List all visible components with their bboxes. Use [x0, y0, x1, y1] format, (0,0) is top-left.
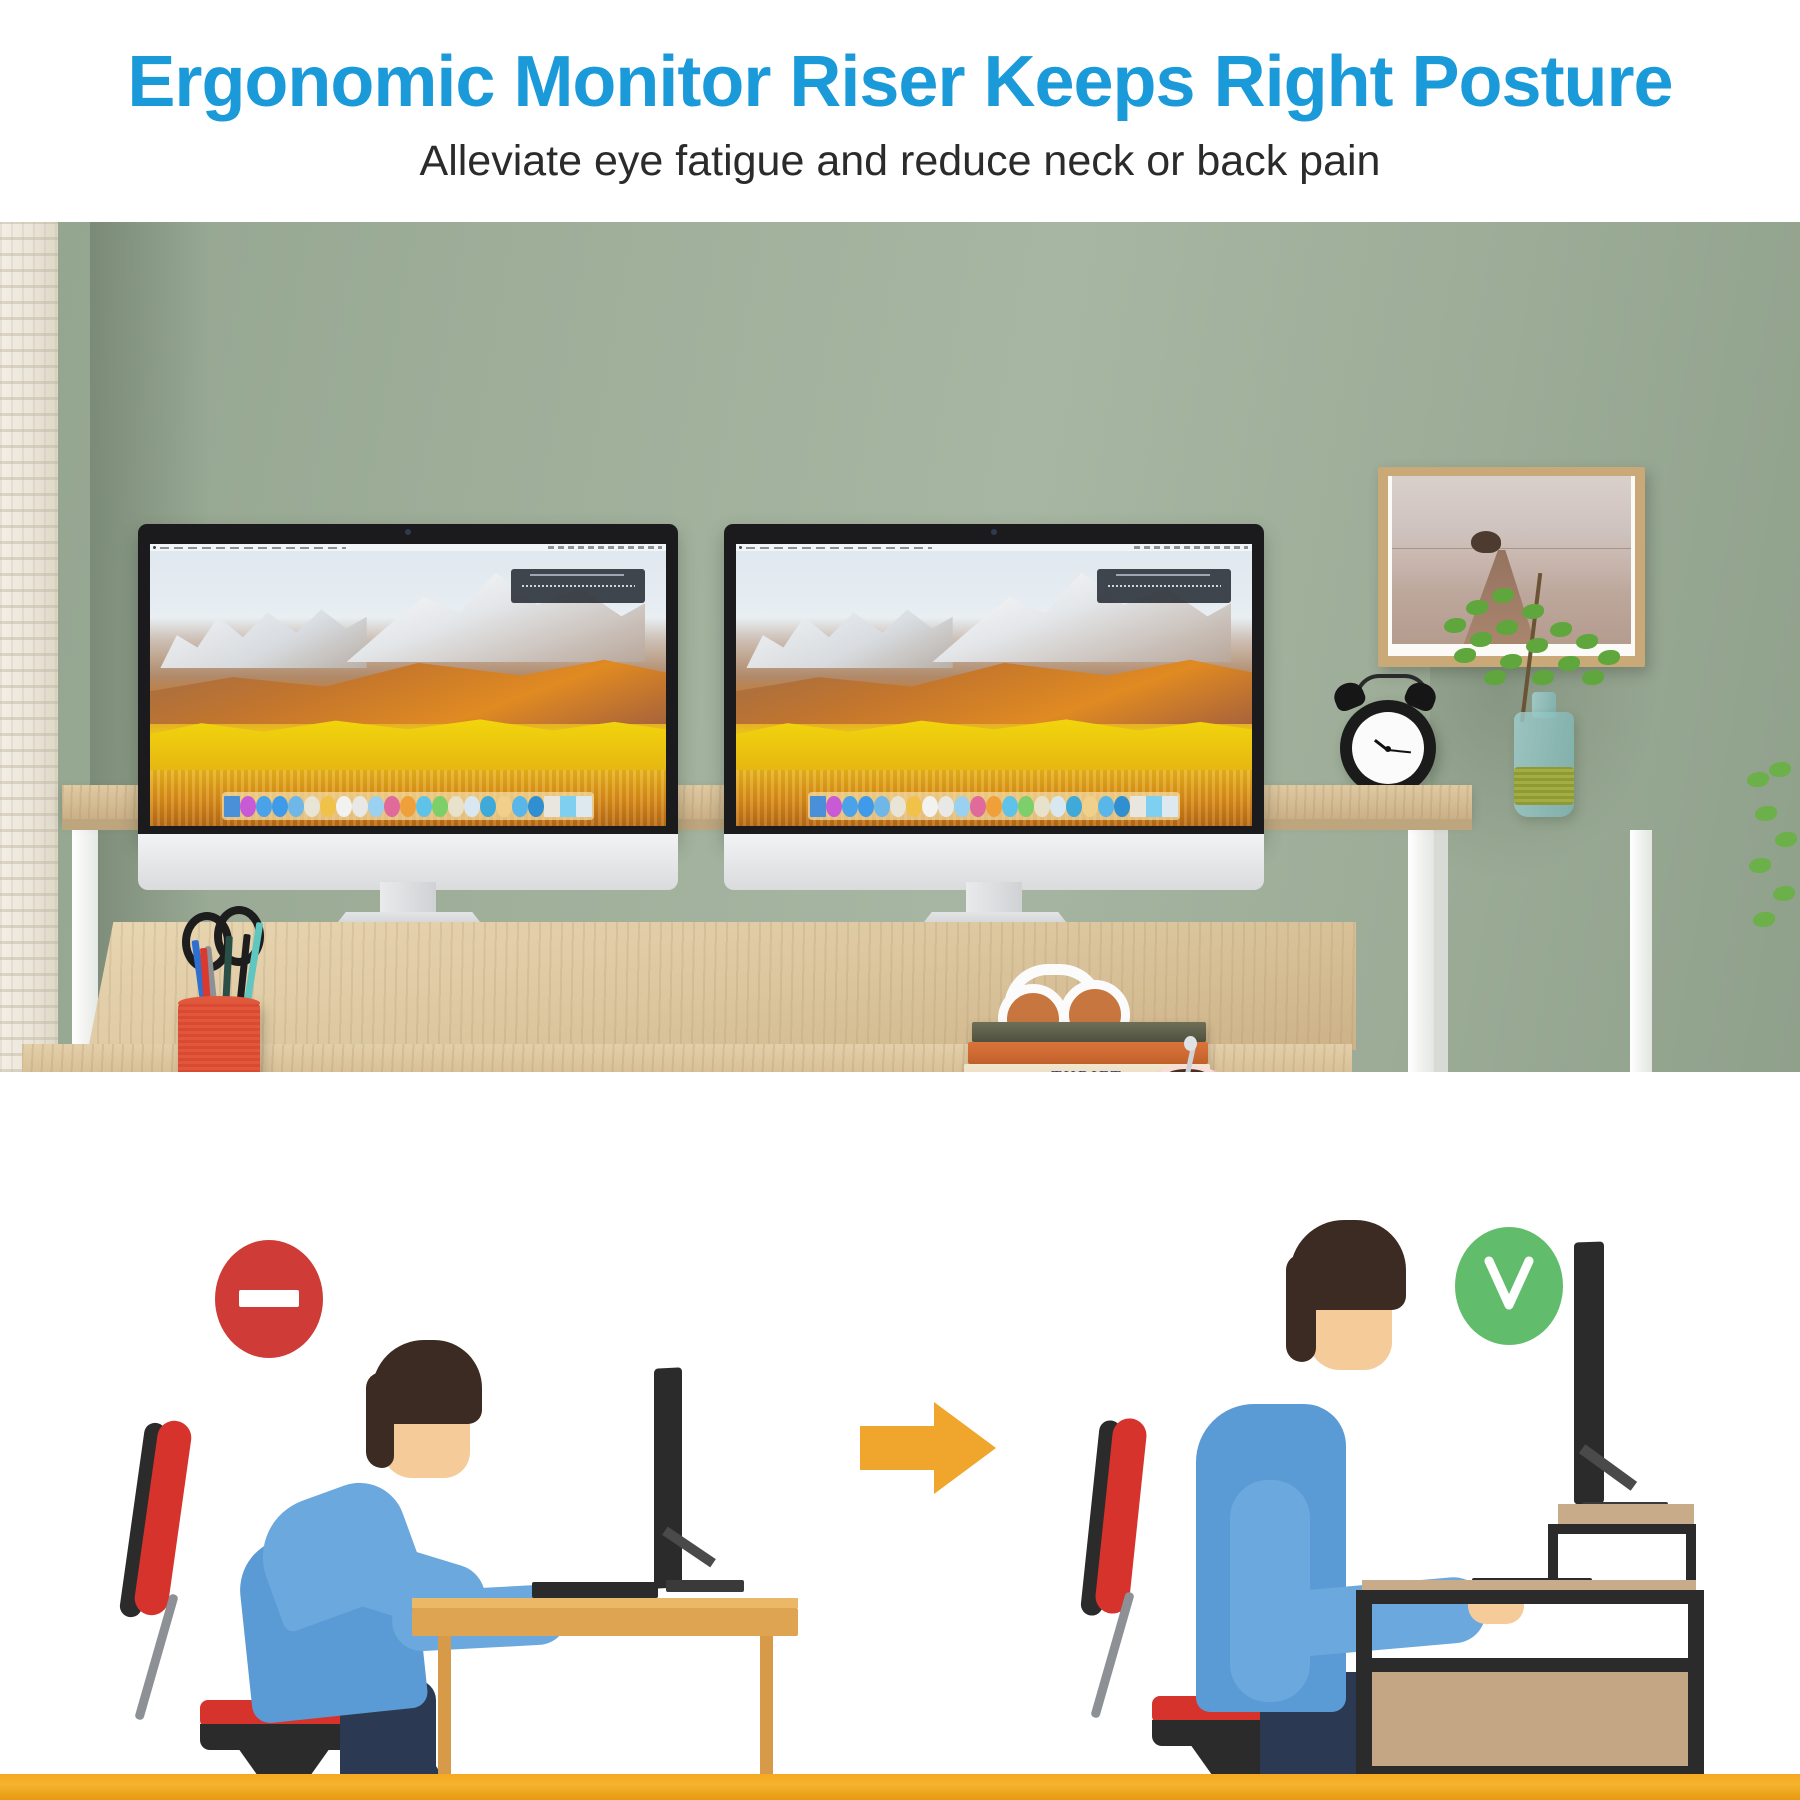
desk-top-highlight — [412, 1598, 798, 1608]
dock-icon-2[interactable] — [842, 796, 858, 817]
riser-leg-right — [1408, 830, 1434, 1072]
dock-icon-1[interactable] — [240, 796, 256, 817]
dock-icon-4[interactable] — [874, 796, 890, 817]
dock-icon-10[interactable] — [384, 796, 400, 817]
dock-icon-11[interactable] — [986, 796, 1002, 817]
dock-icon-18[interactable] — [1098, 796, 1114, 817]
cabinet-frame-left — [1356, 1590, 1372, 1800]
dock-icon-11[interactable] — [400, 796, 416, 817]
art-horizon — [1392, 548, 1631, 549]
dock-icon-0[interactable] — [224, 796, 240, 817]
desk-post-right — [1630, 830, 1652, 1072]
dock-icon-14[interactable] — [448, 796, 464, 817]
apple-logo-icon[interactable] — [153, 546, 156, 549]
webcam-icon — [991, 529, 997, 535]
dock-icon-5[interactable] — [304, 796, 320, 817]
monitor-left-screen — [150, 544, 666, 826]
spoon-bowl — [1184, 1036, 1197, 1051]
menubar-status-icons[interactable] — [1134, 546, 1248, 549]
hair-sideburn — [1286, 1254, 1316, 1362]
dock-icon-10[interactable] — [970, 796, 986, 817]
clock-center-pin — [1385, 746, 1391, 752]
arrow-shaft — [860, 1426, 938, 1470]
macos-dock-right[interactable] — [808, 792, 1180, 820]
dock-icon-0[interactable] — [810, 796, 826, 817]
lace-curtain — [0, 222, 58, 1072]
posture-comparison — [0, 1072, 1800, 1800]
macos-menubar[interactable] — [150, 544, 666, 551]
dock-icon-20[interactable] — [1130, 796, 1146, 817]
arrow-head — [934, 1402, 996, 1494]
cabinet-top-frame — [1356, 1590, 1704, 1604]
dock-icon-18[interactable] — [512, 796, 528, 817]
apple-logo-icon[interactable] — [739, 546, 742, 549]
monitor-right-bezel — [724, 524, 1264, 840]
book-top — [972, 1022, 1206, 1042]
dock-icon-13[interactable] — [432, 796, 448, 817]
riser-frame-top — [1548, 1524, 1696, 1534]
monitor-panel — [654, 1367, 682, 1588]
cabinet-divider-1 — [1372, 1658, 1688, 1672]
dock-icon-12[interactable] — [416, 796, 432, 817]
dock-icon-8[interactable] — [352, 796, 368, 817]
dock-icon-8[interactable] — [938, 796, 954, 817]
dock-icon-12[interactable] — [1002, 796, 1018, 817]
dock-icon-16[interactable] — [1066, 796, 1082, 817]
dock-icon-22[interactable] — [576, 796, 592, 817]
dock-icon-21[interactable] — [560, 796, 576, 817]
product-infographic: Ergonomic Monitor Riser Keeps Right Post… — [0, 0, 1800, 1800]
dock-icon-14[interactable] — [1034, 796, 1050, 817]
page-subtitle: Alleviate eye fatigue and reduce neck or… — [0, 140, 1800, 183]
floor-band — [0, 1774, 1800, 1800]
page-title: Ergonomic Monitor Riser Keeps Right Post… — [0, 46, 1800, 118]
monitor-right-screen — [736, 544, 1252, 826]
dock-icon-3[interactable] — [858, 796, 874, 817]
dock-icon-2[interactable] — [256, 796, 272, 817]
menubar-items[interactable] — [746, 547, 932, 549]
plant-right — [1745, 762, 1800, 962]
monitor-left-bezel — [138, 524, 678, 840]
menubar-status-icons[interactable] — [548, 546, 662, 549]
dock-icon-21[interactable] — [1146, 796, 1162, 817]
desk-top-slab — [412, 1608, 798, 1636]
macos-dock-left[interactable] — [222, 792, 594, 820]
cabinet-frame-right — [1688, 1590, 1704, 1800]
dock-icon-19[interactable] — [1114, 796, 1130, 817]
no-entry-badge — [215, 1240, 323, 1358]
macos-menubar[interactable] — [736, 544, 1252, 551]
dock-icon-17[interactable] — [1082, 796, 1098, 817]
dock-icon-7[interactable] — [336, 796, 352, 817]
audio-widget[interactable] — [1097, 569, 1231, 603]
check-badge — [1455, 1227, 1563, 1345]
dock-icon-7[interactable] — [922, 796, 938, 817]
audio-widget[interactable] — [511, 569, 645, 603]
dock-icon-5[interactable] — [890, 796, 906, 817]
riser-upper-shelf — [1558, 1504, 1694, 1524]
dock-icon-22[interactable] — [1162, 796, 1178, 817]
dock-icon-16[interactable] — [480, 796, 496, 817]
monitor-base — [666, 1580, 744, 1592]
product-photo: THRIFT EPSON L355 — [0, 222, 1800, 1072]
pen-holder — [178, 1002, 260, 1072]
webcam-icon — [405, 529, 411, 535]
cabinet-drawer-1[interactable] — [1372, 1672, 1688, 1766]
hair-sideburn — [366, 1372, 394, 1468]
dock-icon-20[interactable] — [544, 796, 560, 817]
art-mound — [1471, 531, 1501, 553]
riser-leg-right-inner — [1434, 830, 1448, 1072]
dock-icon-15[interactable] — [1050, 796, 1066, 817]
dock-icon-19[interactable] — [528, 796, 544, 817]
header-band: Ergonomic Monitor Riser Keeps Right Post… — [0, 0, 1800, 222]
dock-icon-6[interactable] — [906, 796, 922, 817]
checkmark-icon — [1479, 1255, 1539, 1315]
menubar-items[interactable] — [160, 547, 346, 549]
dock-icon-17[interactable] — [496, 796, 512, 817]
dock-icon-1[interactable] — [826, 796, 842, 817]
vase-woven-band — [1514, 767, 1574, 805]
book-middle — [968, 1042, 1208, 1064]
keyboard-illustration — [532, 1582, 658, 1598]
dock-icon-13[interactable] — [1018, 796, 1034, 817]
dock-icon-6[interactable] — [320, 796, 336, 817]
dock-icon-9[interactable] — [954, 796, 970, 817]
dock-icon-9[interactable] — [368, 796, 384, 817]
dock-icon-15[interactable] — [464, 796, 480, 817]
dock-icon-3[interactable] — [272, 796, 288, 817]
dock-icon-4[interactable] — [288, 796, 304, 817]
